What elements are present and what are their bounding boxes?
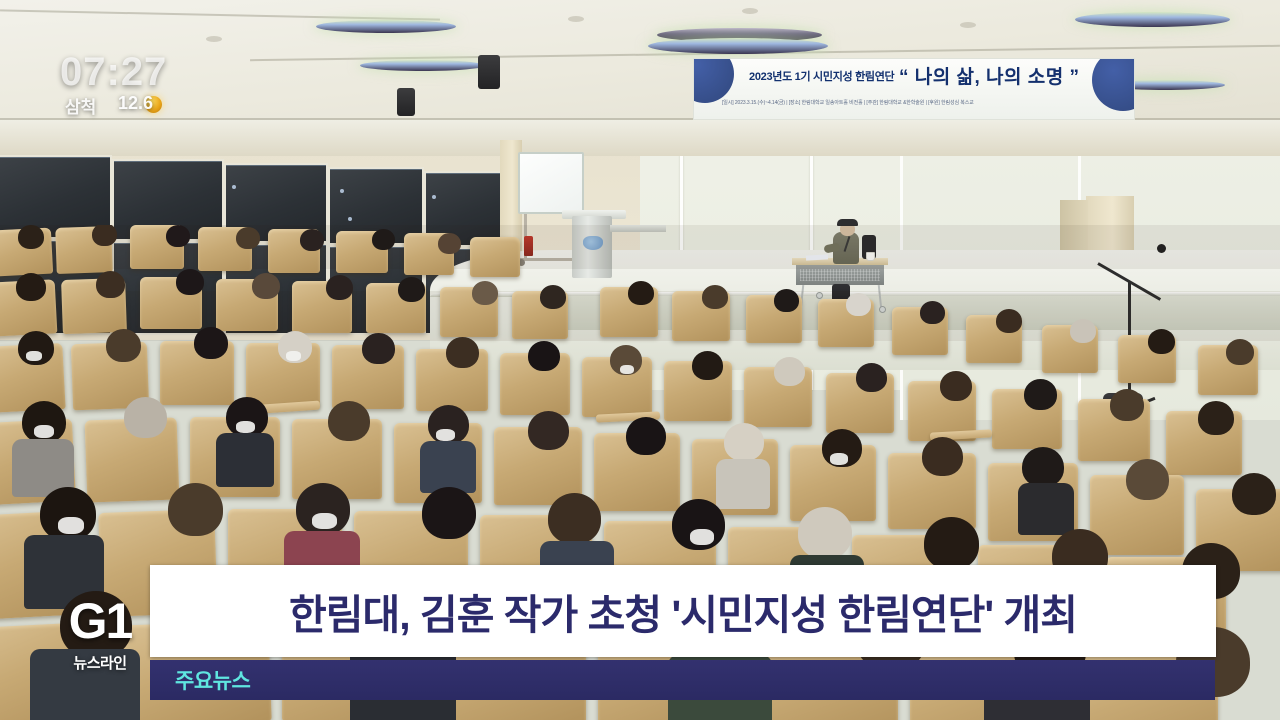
- wall-speaker-icon: [478, 55, 500, 89]
- ceiling-light: [360, 60, 485, 71]
- banner-subject-line: 2023년도 1기 시민지성 한림연단: [749, 68, 894, 84]
- clock-temperature: 12.6: [118, 93, 153, 114]
- banner-details-line: [일시] 2023.3.15.(수)~4.14(금) | [장소] 한림대학교 …: [722, 99, 1116, 106]
- whiteboard: [518, 152, 584, 214]
- clock-time: 07:27: [60, 52, 167, 92]
- headline-banner: 한림대, 김훈 작가 초청 '시민지성 한림연단' 개최: [150, 565, 1216, 657]
- banner-decor-blob: [693, 58, 734, 103]
- wall-speaker-icon: [397, 88, 415, 116]
- ceiling-light: [648, 38, 828, 54]
- ceiling-light: [316, 20, 456, 33]
- topic-banner: 주요뉴스: [150, 660, 1215, 700]
- clock-location: 삼척: [65, 93, 96, 118]
- ceiling-light: [1075, 12, 1230, 27]
- ceiling-band: [0, 120, 1280, 156]
- channel-logo-mark: G1: [69, 596, 132, 646]
- event-wall-banner: 2023년도 1기 시민지성 한림연단 “ 나의 삶, 나의 소명 ” [일시]…: [693, 58, 1135, 120]
- channel-logo-bug: G1 뉴스라인: [52, 596, 148, 684]
- clock-overlay: 07:27 삼척 12.6: [60, 52, 190, 114]
- banner-title: “ 나의 삶, 나의 소명 ”: [899, 62, 1080, 89]
- channel-program-name: 뉴스라인: [73, 652, 126, 673]
- broadcast-screen: 2023년도 1기 시민지성 한림연단 “ 나의 삶, 나의 소명 ” [일시]…: [0, 0, 1280, 720]
- topic-label: 주요뉴스: [175, 665, 250, 695]
- headline-text: 한림대, 김훈 작가 초청 '시민지성 한림연단' 개최: [289, 581, 1077, 641]
